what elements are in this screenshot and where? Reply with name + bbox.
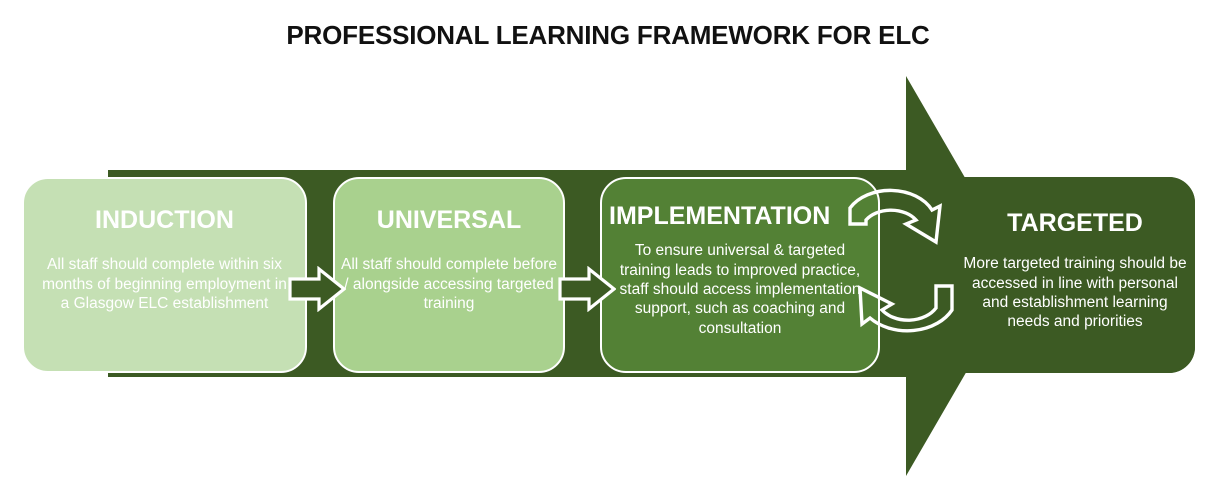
stage-induction-body: All staff should complete within six mon… [24, 255, 305, 313]
stage-universal[interactable]: UNIVERSAL All staff should complete befo… [333, 177, 565, 373]
stage-universal-body: All staff should complete before / along… [335, 255, 563, 313]
stage-targeted[interactable]: TARGETED More targeted training should b… [955, 177, 1195, 373]
stage-targeted-heading: TARGETED [957, 210, 1193, 236]
stage-induction-heading: INDUCTION [24, 207, 305, 233]
diagram-canvas: PROFESSIONAL LEARNING FRAMEWORK FOR ELC … [0, 0, 1216, 483]
stage-targeted-body: More targeted training should be accesse… [957, 254, 1193, 332]
stage-induction[interactable]: INDUCTION All staff should complete with… [22, 177, 307, 373]
stage-implementation-heading: IMPLEMENTATION [600, 203, 880, 229]
page-title: PROFESSIONAL LEARNING FRAMEWORK FOR ELC [0, 20, 1216, 51]
stage-implementation[interactable]: IMPLEMENTATION To ensure universal & tar… [600, 177, 880, 373]
stage-implementation-body: To ensure universal & targeted training … [602, 241, 878, 338]
stage-universal-heading: UNIVERSAL [335, 207, 563, 233]
